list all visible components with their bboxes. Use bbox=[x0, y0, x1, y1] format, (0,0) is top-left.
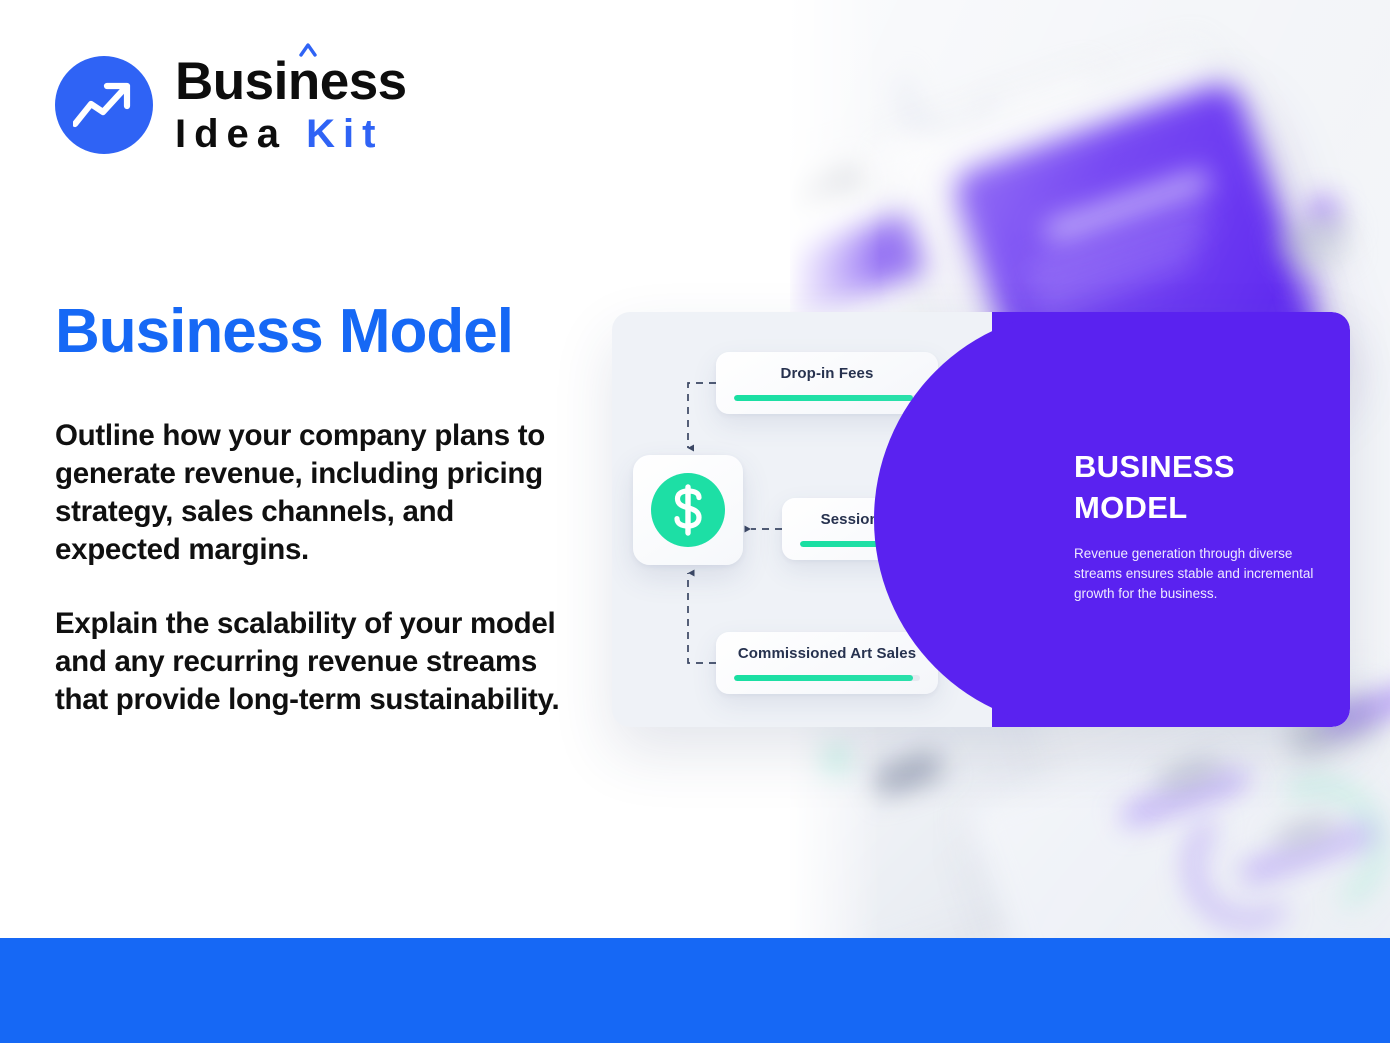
revenue-stream-node[interactable]: Drop-in Fees bbox=[716, 352, 938, 414]
logo-name-primary-text: Business bbox=[175, 52, 407, 111]
hero-paragraph-1: Outline how your company plans to genera… bbox=[55, 417, 585, 569]
connector-drop-in-fees bbox=[688, 383, 716, 448]
logo-name-secondary: Idea Kit bbox=[175, 114, 407, 154]
trending-up-arrow-icon bbox=[73, 78, 135, 132]
panel-title: BUSINESS MODEL bbox=[1074, 446, 1326, 528]
footer-bar bbox=[0, 938, 1390, 1043]
logo-name-primary: Business bbox=[175, 55, 407, 108]
hero-paragraph-2: Explain the scalability of your model an… bbox=[55, 605, 585, 719]
chevron-up-accent-icon bbox=[299, 42, 317, 57]
slide-root: Business Idea Kit Business Model Outline… bbox=[0, 0, 1390, 1043]
brand-logo[interactable]: Business Idea Kit bbox=[55, 55, 407, 154]
panel-content: BUSINESS MODEL Revenue generation throug… bbox=[1074, 446, 1326, 604]
panel-description: Revenue generation through diverse strea… bbox=[1074, 544, 1326, 604]
node-progress-track bbox=[734, 395, 920, 401]
panel-title-line2: MODEL bbox=[1074, 487, 1326, 528]
panel-title-line1: BUSINESS bbox=[1074, 446, 1326, 487]
hub-circle bbox=[651, 473, 725, 547]
page-title: Business Model bbox=[55, 296, 513, 367]
revenue-stream-node[interactable]: Commissioned Art Sales bbox=[716, 632, 938, 694]
logo-name-idea: Idea bbox=[175, 112, 306, 156]
summary-panel: BUSINESS MODEL Revenue generation throug… bbox=[992, 312, 1350, 727]
node-progress-fill bbox=[734, 675, 913, 681]
logo-circle bbox=[55, 56, 153, 154]
node-label: Drop-in Fees bbox=[781, 365, 874, 382]
node-progress-track bbox=[734, 675, 920, 681]
revenue-model-diagram-card: Drop-in Fees Session Workshops Commissio… bbox=[612, 312, 1350, 727]
hero-description: Outline how your company plans to genera… bbox=[55, 417, 585, 719]
logo-wordmark: Business Idea Kit bbox=[175, 55, 407, 154]
dollar-sign-icon bbox=[668, 484, 708, 536]
node-label: Commissioned Art Sales bbox=[738, 645, 916, 662]
revenue-hub-node[interactable] bbox=[633, 455, 743, 565]
connector-commissioned-art-sales bbox=[688, 573, 716, 663]
logo-name-kit: Kit bbox=[306, 112, 383, 156]
node-progress-fill bbox=[734, 395, 913, 401]
